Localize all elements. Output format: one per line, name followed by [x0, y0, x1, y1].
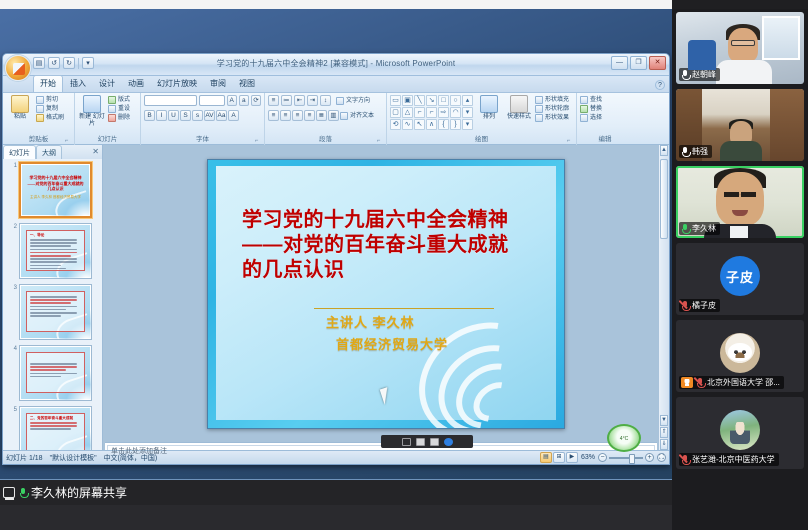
slide-title-line-1: 学习党的十九届六中全会精神 [242, 208, 538, 233]
participant-name-badge: 北京外国语大学 邵... [679, 376, 784, 389]
share-info-icon[interactable] [444, 438, 453, 446]
columns-button[interactable]: ▥ [328, 110, 339, 121]
clipboard-group-label: 剪贴板 ⌐ [6, 135, 71, 145]
quick-styles-icon [510, 95, 528, 113]
previous-slide-button[interactable]: ⇑ [660, 427, 668, 438]
copy-button[interactable]: 复制 [36, 105, 64, 113]
shape-elbow-icon[interactable]: ⌐ [426, 107, 437, 118]
delete-label: 删除 [118, 114, 130, 122]
next-slide-button[interactable]: ⇓ [660, 439, 668, 450]
shared-screen-area: ▤ ↺ ↻ ▾ 学习党的十九届六中全会精神2 [兼容模式] - Microsof… [0, 9, 672, 505]
line-spacing-button[interactable]: ↕ [320, 95, 331, 106]
ribbon-group-font: A a ⟳ B I U S s AV Aa A [141, 93, 265, 145]
tab-animations[interactable]: 动画 [122, 76, 150, 92]
slide-title-text[interactable]: 学习党的十九届六中全会精神 ——对党的百年奋斗重大成就 的几点认识 [242, 208, 538, 283]
tab-insert[interactable]: 插入 [64, 76, 92, 92]
shape-square-icon[interactable]: □ [438, 95, 449, 106]
reset-icon [108, 105, 116, 113]
tab-view[interactable]: 视图 [233, 76, 261, 92]
increase-indent-button[interactable]: ⇥ [307, 95, 318, 106]
clear-formatting-button[interactable]: ⟳ [251, 95, 261, 106]
new-slide-button[interactable]: 新建 幻灯片 [78, 95, 106, 127]
shape-triangle-icon[interactable]: △ [402, 107, 413, 118]
pane-tab-slides[interactable]: 幻灯片 [3, 145, 36, 159]
shape-fill-label: 形状填充 [545, 96, 569, 104]
align-left-button[interactable]: ≡ [268, 110, 279, 121]
participant-name: 李久林 [692, 223, 716, 234]
thumbnail-canvas [21, 347, 90, 399]
cut-button[interactable]: 剪切 [36, 96, 64, 104]
quick-styles-label: 快速样式 [507, 114, 531, 121]
thumbnail-number: 1 [11, 162, 17, 169]
drawing-group-label: 绘图 ⌐ [390, 135, 573, 145]
microphone-muted-icon [696, 378, 704, 388]
editing-group-label: 编辑 [580, 135, 630, 145]
slides-pane-tabs[interactable]: 幻灯片 大纲 ✕ [3, 145, 102, 159]
tab-home[interactable]: 开始 [33, 75, 63, 92]
participant-video-strip[interactable]: 赵朝峰 韩强 李久林 子皮 [672, 9, 808, 530]
increase-font-size-button[interactable]: A [227, 95, 237, 106]
shape-fill-icon [535, 96, 543, 104]
bold-button[interactable]: B [144, 110, 155, 121]
list-item[interactable]: 2 一、导论 [11, 223, 92, 279]
participant-name-badge: 橘子皮 [679, 299, 720, 312]
microphone-icon [19, 488, 27, 498]
numbering-button[interactable]: ≔ [281, 95, 292, 106]
shape-scroll-down-icon[interactable]: ▾ [462, 107, 473, 118]
avatar [720, 410, 760, 450]
glasses-icon [731, 40, 755, 46]
thumbnail-canvas [21, 286, 90, 338]
layout-label: 版式 [118, 96, 130, 104]
shape-scroll-up-icon[interactable]: ▴ [462, 95, 473, 106]
shape-more-icon[interactable]: ▾ [462, 119, 473, 130]
reset-label: 重设 [118, 105, 130, 113]
participant-tile-5[interactable]: 张艺潍-北京中医药大学 [676, 397, 804, 469]
slide-thumbnail-3[interactable] [19, 284, 92, 340]
slide-thumbnail-2[interactable]: 一、导论 [19, 223, 92, 279]
bullets-button[interactable]: ≡ [268, 95, 279, 106]
participant-eyes [724, 192, 756, 197]
screen-root: ▤ ↺ ↻ ▾ 学习党的十九届六中全会精神2 [兼容模式] - Microsof… [0, 0, 808, 530]
powerpoint-workspace: 幻灯片 大纲 ✕ 1 学习党的十九届六中全会精神——对党的百年奋斗重大成就的几点… [3, 145, 669, 464]
slide-thumbnail-list[interactable]: 1 学习党的十九届六中全会精神——对党的百年奋斗重大成就的几点认识 主讲人 李久… [3, 159, 102, 464]
replace-icon [580, 105, 588, 113]
avatar: 子皮 [720, 256, 760, 296]
list-item[interactable]: 3 [11, 284, 92, 340]
scroll-down-arrow[interactable]: ▼ [660, 415, 668, 426]
ribbon-group-editing: 查找 替换 选择 编辑 [577, 93, 633, 145]
shape-rounded-icon[interactable]: ▢ [390, 107, 401, 118]
align-text-icon [340, 112, 348, 120]
list-item[interactable]: 4 [11, 345, 92, 401]
shape-effects-label: 形状效果 [545, 114, 569, 122]
delete-slide-button[interactable]: 删除 [108, 114, 130, 122]
slide-counter: 幻灯片 1/18 [6, 453, 43, 463]
slides-group-label: 幻灯片 [78, 135, 137, 145]
screen-share-label: 李久林的屏幕共享 [31, 484, 127, 501]
office-orb-button[interactable] [5, 55, 31, 81]
microphone-icon [681, 70, 689, 80]
layout-button[interactable]: 版式 [108, 96, 130, 104]
design-template-name[interactable]: "默认设计模板" [50, 453, 97, 463]
participant-tile-4[interactable]: 北京外国语大学 邵... [676, 320, 804, 392]
align-text-button[interactable]: 对齐文本 [340, 112, 374, 120]
shape-outline-label: 形状轮廓 [545, 105, 569, 113]
format-painter-button[interactable]: 格式刷 [36, 114, 64, 122]
shape-freeform-icon[interactable]: ⟲ [390, 119, 401, 130]
arrange-button[interactable]: 排列 [475, 95, 503, 121]
slide-thumbnail-4[interactable] [19, 345, 92, 401]
thumbnail-body-lines [30, 239, 81, 269]
thumbnail-canvas: 一、导论 [21, 225, 90, 277]
notes-placeholder: 单击此处添加备注 [111, 446, 657, 456]
window-title: 学习党的十九届六中全会精神2 [兼容模式] - Microsoft PowerP… [3, 58, 669, 69]
slide-divider-line [314, 308, 494, 309]
shape-corner-icon[interactable]: ⌐ [414, 107, 425, 118]
thumbnail-number: 5 [11, 406, 17, 413]
participant-shirt [730, 226, 748, 238]
microphone-muted-icon [681, 455, 689, 465]
participant-name: 韩强 [692, 146, 708, 157]
text-direction-icon [336, 97, 344, 105]
shape-outline-button[interactable]: 形状轮廓 [535, 105, 569, 113]
font-dialog-launcher[interactable]: ⌐ [253, 136, 260, 143]
participant-name-badge: 赵朝峰 [679, 68, 720, 81]
thumbnail-body-lines [30, 422, 81, 430]
slide-background: 学习党的十九届六中全会精神 ——对党的百年奋斗重大成就 的几点认识 主讲人 李久… [216, 166, 556, 420]
screen-share-banner: 李久林的屏幕共享 [0, 480, 672, 505]
participant-body [716, 60, 772, 84]
restore-button[interactable]: ❐ [630, 56, 647, 70]
slide-title-line-2: ——对党的百年奋斗重大成就 [242, 233, 538, 258]
shape-arrow-icon[interactable]: ↘ [426, 95, 437, 106]
list-item[interactable]: 1 学习党的十九届六中全会精神——对党的百年奋斗重大成就的几点认识 主讲人 李久… [11, 162, 92, 218]
paste-label: 粘贴 [14, 114, 26, 121]
shape-line-icon[interactable]: ╲ [414, 95, 425, 106]
slides-pane: 幻灯片 大纲 ✕ 1 学习党的十九届六中全会精神——对党的百年奋斗重大成就的几点… [3, 145, 103, 464]
shape-scribble-icon[interactable]: ∿ [402, 119, 413, 130]
participant-tile-1[interactable]: 韩强 [676, 89, 804, 161]
top-strip-dark [672, 0, 808, 9]
shape-outline-icon [535, 105, 543, 113]
mouse-cursor-icon [380, 387, 393, 405]
underline-button[interactable]: U [168, 110, 179, 121]
decrease-font-size-button[interactable]: a [239, 95, 249, 106]
microphone-icon [681, 224, 689, 234]
decrease-indent-button[interactable]: ⇤ [294, 95, 305, 106]
participant-name-badge: 张艺潍-北京中医药大学 [679, 453, 779, 466]
font-group-label: 字体 ⌐ [144, 135, 261, 145]
align-center-button[interactable]: ≡ [280, 110, 291, 121]
minimize-button[interactable]: — [611, 56, 628, 70]
find-label: 查找 [590, 96, 602, 104]
thumbnail-heading: 一、导论 [30, 233, 44, 238]
align-right-button[interactable]: ≡ [292, 110, 303, 121]
share-pause-icon[interactable] [402, 438, 411, 446]
shape-brace-left-icon[interactable]: { [438, 119, 449, 130]
quick-styles-button[interactable]: 快速样式 [505, 95, 533, 121]
scrollbar-thumb[interactable] [660, 159, 668, 239]
shape-arrow-right-icon[interactable]: ⇨ [438, 107, 449, 118]
shape-brace-right-icon[interactable]: } [450, 119, 461, 130]
pane-tab-outline[interactable]: 大纲 [36, 145, 62, 159]
ribbon-group-slides: 新建 幻灯片 版式 重设 [75, 93, 141, 145]
avatar [720, 333, 760, 373]
scroll-up-arrow[interactable]: ▲ [660, 145, 668, 156]
font-name-combo[interactable] [144, 95, 197, 106]
character-spacing-button[interactable]: AV [204, 110, 215, 121]
text-direction-label: 文字方向 [346, 97, 370, 105]
thumbnail-heading: 二、党的百年奋斗重大成就 [30, 416, 73, 421]
screen-share-icon [3, 487, 15, 498]
font-color-button[interactable]: A [228, 110, 239, 121]
replace-button[interactable]: 替换 [580, 105, 602, 113]
cut-label: 剪切 [46, 96, 58, 104]
thumbnail-body-lines [30, 296, 81, 317]
thumbnail-number: 2 [11, 223, 17, 230]
shape-box-icon[interactable]: ▣ [402, 95, 413, 106]
participant-name: 橘子皮 [692, 300, 716, 311]
distribute-button[interactable]: ≣ [316, 110, 327, 121]
clipboard-dialog-launcher[interactable]: ⌐ [63, 136, 70, 143]
find-button[interactable]: 查找 [580, 96, 602, 104]
shape-effects-button[interactable]: 形状效果 [535, 114, 569, 122]
reset-button[interactable]: 重设 [108, 105, 130, 113]
new-slide-label: 新建 幻灯片 [78, 114, 106, 127]
delete-icon [108, 114, 116, 122]
thumbnail-body-lines [30, 363, 81, 377]
zoom-track[interactable] [609, 457, 643, 459]
powerpoint-titlebar[interactable]: ▤ ↺ ↻ ▾ 学习党的十九届六中全会精神2 [兼容模式] - Microsof… [3, 54, 669, 76]
copy-icon [36, 105, 44, 113]
help-icon[interactable]: ? [655, 80, 665, 90]
participant-tile-3[interactable]: 子皮 橘子皮 [676, 243, 804, 315]
close-button[interactable]: ✕ [649, 56, 666, 70]
ribbon-group-paragraph: ≡ ≔ ⇤ ⇥ ↕ 文字方向 ≡ ≡ [265, 93, 387, 145]
window-controls[interactable]: — ❐ ✕ [611, 56, 666, 70]
ribbon: 粘贴 剪切 复制 [3, 93, 669, 145]
slide-thumbnail-1[interactable]: 学习党的十九届六中全会精神——对党的百年奋斗重大成就的几点认识 主讲人 李久林 … [19, 162, 92, 218]
layout-icon [108, 96, 116, 104]
format-painter-icon [36, 114, 44, 122]
slide-scrollbar[interactable]: ▲ ▼ ⇑ ⇓ [658, 145, 669, 464]
participant-tile-2[interactable]: 李久林 [676, 166, 804, 238]
copy-label: 复制 [46, 105, 58, 113]
thumbnail-swoosh-graphic [49, 187, 92, 218]
paste-button[interactable]: 粘贴 [6, 95, 34, 121]
ribbon-tab-bar[interactable]: 开始 插入 设计 动画 幻灯片放映 审阅 视图 ? [3, 76, 669, 93]
microphone-muted-icon [681, 301, 689, 311]
participant-name-badge: 韩强 [679, 145, 712, 158]
arrange-label: 排列 [483, 114, 495, 121]
new-slide-icon [83, 95, 101, 113]
slide-canvas-wrapper: 学习党的十九届六中全会精神 ——对党的百年奋斗重大成就 的几点认识 主讲人 李久… [103, 145, 669, 442]
tab-slideshow[interactable]: 幻灯片放映 [151, 76, 203, 92]
drawing-dialog-launcher[interactable]: ⌐ [565, 136, 572, 143]
format-painter-label: 格式刷 [46, 114, 64, 122]
share-window-icon[interactable] [430, 438, 439, 446]
italic-button[interactable]: I [156, 110, 167, 121]
shape-chevron-icon[interactable]: ∧ [426, 119, 437, 130]
strikethrough-button[interactable]: S [180, 110, 191, 121]
shape-arc-icon[interactable]: ◠ [450, 107, 461, 118]
host-icon [681, 377, 693, 388]
paragraph-group-label: 段落 ⌐ [268, 135, 383, 145]
powerpoint-window[interactable]: ▤ ↺ ↻ ▾ 学习党的十九届六中全会精神2 [兼容模式] - Microsof… [2, 53, 670, 465]
ribbon-group-clipboard: 粘贴 剪切 复制 [3, 93, 75, 145]
select-button[interactable]: 选择 [580, 114, 602, 122]
thumbnail-number: 4 [11, 345, 17, 352]
paste-icon [11, 95, 29, 113]
slide-edit-area[interactable]: 学习党的十九届六中全会精神 ——对党的百年奋斗重大成就 的几点认识 主讲人 李久… [103, 145, 669, 464]
justify-button[interactable]: ≡ [304, 110, 315, 121]
participant-name-badge: 李久林 [679, 222, 720, 235]
shape-rectangle-icon[interactable]: ▭ [390, 95, 401, 106]
change-case-button[interactable]: Aa [216, 110, 227, 121]
shape-oval-icon[interactable]: ○ [450, 95, 461, 106]
thumbnail-number: 3 [11, 284, 17, 291]
close-pane-icon[interactable]: ✕ [92, 147, 99, 156]
shape-curve-icon[interactable]: ↖ [414, 119, 425, 130]
participant-head [716, 172, 764, 226]
slide-presenter-text: 主讲人 李久林 [326, 312, 415, 331]
shape-gallery[interactable]: ▭ ▣ ╲ ↘ □ ○ ▴ ▢ △ ⌐ ⌐ ⇨ ◠ [390, 95, 473, 130]
paragraph-dialog-launcher[interactable]: ⌐ [375, 136, 382, 143]
shadow-button[interactable]: s [192, 110, 203, 121]
find-icon [580, 96, 588, 104]
top-strip [0, 0, 672, 9]
cut-icon [36, 96, 44, 104]
shape-effects-icon [535, 114, 543, 122]
align-text-label: 对齐文本 [350, 112, 374, 120]
share-annotate-icon[interactable] [416, 438, 425, 446]
fit-to-window-button[interactable]: ⛶ [657, 453, 666, 462]
arrange-icon [480, 95, 498, 113]
tab-review[interactable]: 审阅 [204, 76, 232, 92]
ribbon-group-drawing: ▭ ▣ ╲ ↘ □ ○ ▴ ▢ △ ⌐ ⌐ ⇨ ◠ [387, 93, 577, 145]
thumbnail-title: 学习党的十九届六中全会精神——对党的百年奋斗重大成就的几点认识 [26, 175, 85, 192]
thumbnail-canvas: 学习党的十九届六中全会精神——对党的百年奋斗重大成就的几点认识 主讲人 李久林 … [22, 165, 89, 215]
current-slide[interactable]: 学习党的十九届六中全会精神 ——对党的百年奋斗重大成就 的几点认识 主讲人 李久… [207, 159, 565, 429]
slide-title-line-3: 的几点认识 [242, 258, 538, 283]
replace-label: 替换 [590, 105, 602, 113]
thumbnail-subtitle: 主讲人 李久林 首都经济贸易大学 [28, 195, 83, 200]
participant-body [720, 141, 762, 161]
tab-design[interactable]: 设计 [93, 76, 121, 92]
text-direction-button[interactable]: 文字方向 [336, 97, 370, 105]
participant-name: 赵朝峰 [692, 69, 716, 80]
participant-tile-0[interactable]: 赵朝峰 [676, 12, 804, 84]
shape-fill-button[interactable]: 形状填充 [535, 96, 569, 104]
participant-name: 北京外国语大学 邵... [707, 377, 780, 388]
select-label: 选择 [590, 114, 602, 122]
font-size-combo[interactable] [199, 95, 225, 106]
select-icon [580, 114, 588, 122]
microphone-icon [681, 147, 689, 157]
participant-name: 张艺潍-北京中医药大学 [692, 454, 775, 465]
slide-organization-text: 首都经济贸易大学 [336, 334, 448, 353]
